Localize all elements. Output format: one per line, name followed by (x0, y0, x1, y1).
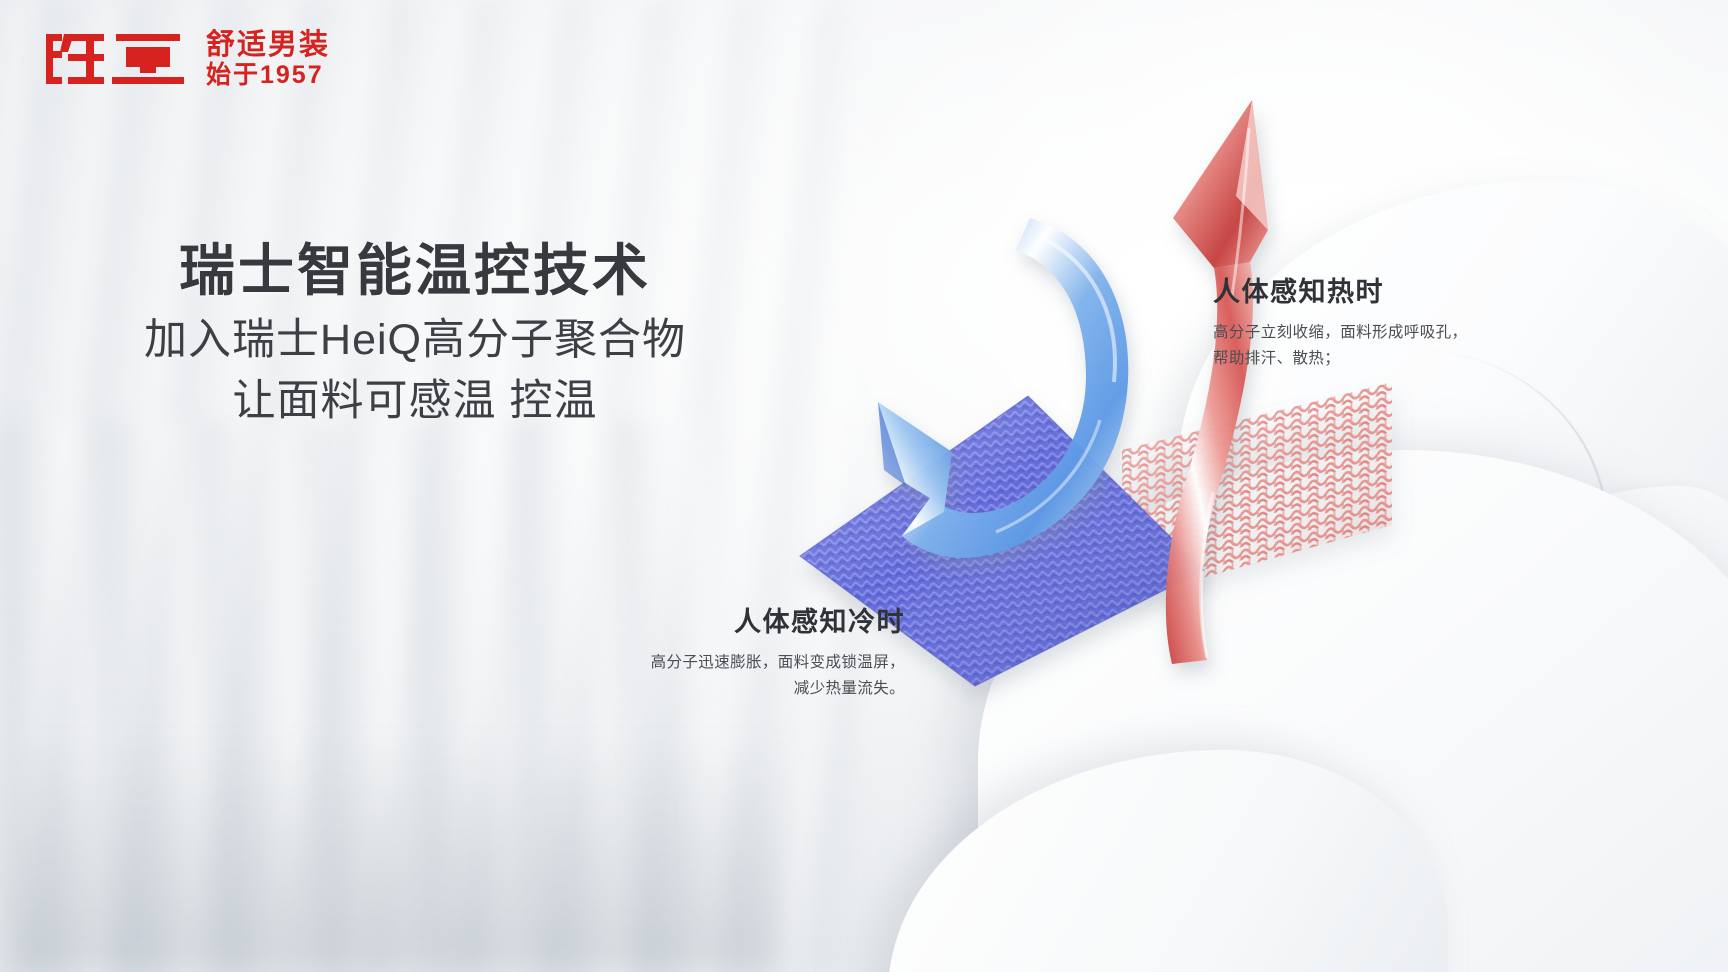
callout-hot-line2: 帮助排汗、散热； (1213, 346, 1503, 371)
callout-hot-line1: 高分子立刻收缩，面料形成呼吸孔， (1213, 320, 1503, 345)
brand-tagline: 始于1957 (206, 63, 330, 88)
headline-subtitle-line1: 加入瑞士HeiQ高分子聚合物 (0, 310, 830, 371)
brand-logo[interactable]: 舒适男装 始于1957 (42, 28, 330, 90)
callout-cold: 人体感知冷时 高分子迅速膨胀，面料变成锁温屏， 减少热量流失。 (560, 606, 905, 701)
red-up-arrow (1166, 100, 1268, 664)
callout-hot: 人体感知热时 高分子立刻收缩，面料形成呼吸孔， 帮助排汗、散热； (1213, 276, 1503, 371)
callout-cold-title: 人体感知冷时 (560, 606, 905, 638)
callout-cold-line2: 减少热量流失。 (560, 676, 905, 701)
callout-hot-title: 人体感知热时 (1213, 276, 1503, 308)
headline-title: 瑞士智能温控技术 (0, 238, 830, 304)
promo-banner: 舒适男装 始于1957 瑞士智能温控技术 加入瑞士HeiQ高分子聚合物 让面料可… (0, 0, 1728, 972)
brand-name: 舒适男装 (206, 31, 330, 60)
headline-subtitle-line2: 让面料可感温 控温 (0, 371, 830, 432)
hongdou-logo-icon (42, 28, 192, 90)
thermoregulation-diagram (0, 0, 1728, 972)
brand-logo-text: 舒适男装 始于1957 (206, 31, 330, 88)
headline-block: 瑞士智能温控技术 加入瑞士HeiQ高分子聚合物 让面料可感温 控温 (0, 238, 830, 432)
callout-cold-line1: 高分子迅速膨胀，面料变成锁温屏， (560, 650, 905, 675)
